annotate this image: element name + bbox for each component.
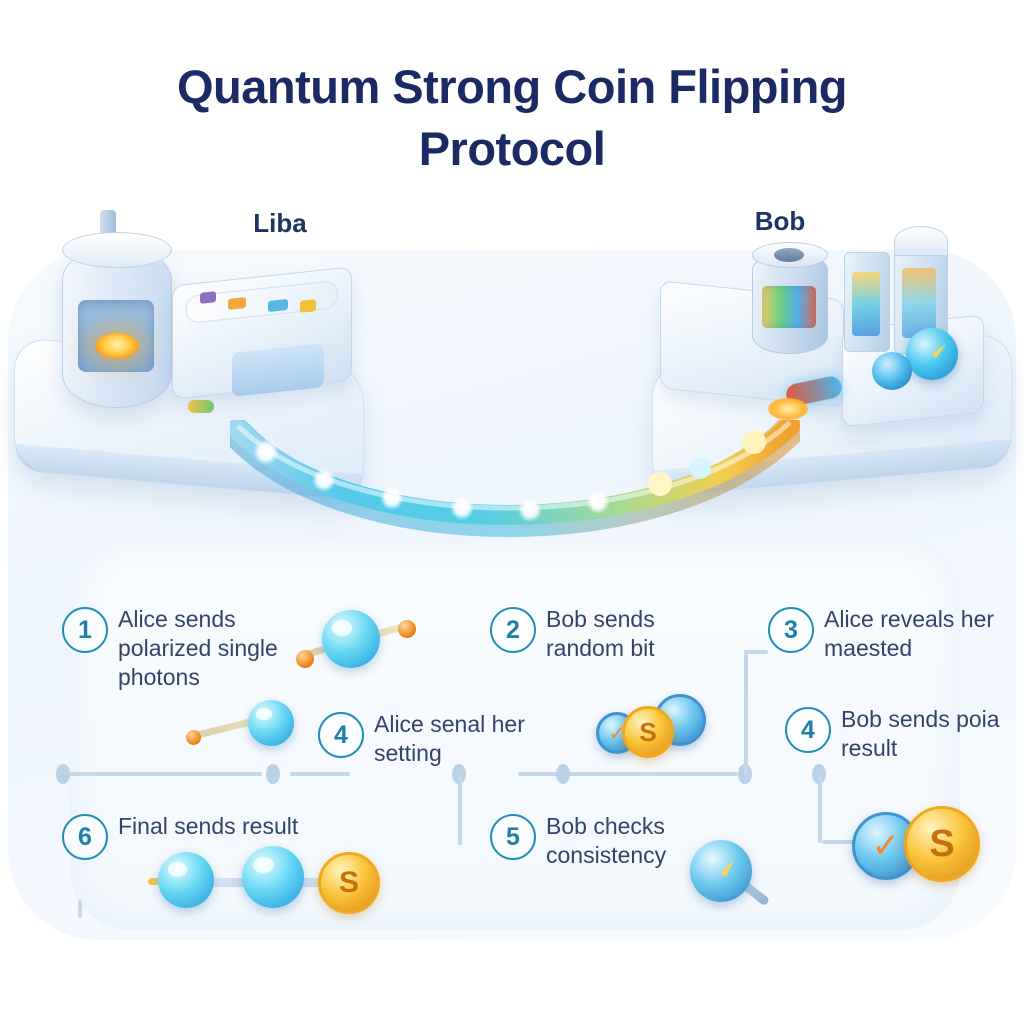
illustration-canvas: Quantum Strong Coin Flipping Protocol Li… [0, 0, 1024, 1024]
magnifier-lens [690, 840, 752, 902]
connector-dot-1 [56, 764, 70, 784]
coin-gold-dollar-final: S [318, 852, 380, 914]
step-label-1: Alice sends polarized single photons [118, 605, 318, 693]
alice-output-spark [188, 400, 214, 413]
connector-line-vert-1 [458, 775, 462, 845]
step-number-2: 2 [490, 607, 536, 653]
title-line-2: Protocol [0, 118, 1024, 180]
step-number-4a: 4 [318, 712, 364, 758]
quantum-channel-svg [230, 420, 800, 550]
connector-line-vert-3 [818, 775, 822, 843]
alice-emission-glow [95, 333, 139, 359]
step-number-3: 3 [768, 607, 814, 653]
step-number-4b: 4 [785, 707, 831, 753]
party-label-bob: Bob [690, 206, 870, 237]
title-line-1: Quantum Strong Coin Flipping [177, 60, 847, 113]
spectrum-glyph-icon [690, 840, 752, 902]
bob-tower-1-window [852, 272, 880, 336]
step-label-2: Bob sends random bit [546, 605, 736, 663]
alice-chip-yellow [300, 299, 316, 313]
bob-tower-2-dome [894, 226, 948, 256]
bob-beam-flare [768, 398, 808, 420]
connector-line-vert-4 [78, 900, 82, 918]
step-label-3: Alice reveals her maested [824, 605, 1014, 663]
result-coin-gold: S [904, 806, 980, 882]
step-label-6: Final sends result [118, 812, 398, 841]
coin-gold-dollar: S [622, 706, 674, 758]
bob-secondary-sphere [872, 352, 912, 390]
alice-chip-purple [200, 291, 216, 304]
connector-line-3 [518, 772, 738, 776]
connector-line-vert-2 [744, 650, 748, 776]
quantum-channel [230, 420, 800, 550]
alice-chamber-lid [62, 232, 172, 268]
step-label-4a: Alice senal her setting [374, 710, 564, 768]
compass-needle-icon [906, 328, 958, 380]
bob-cylinder-spectrum-window [762, 286, 816, 328]
page-title: Quantum Strong Coin Flipping Protocol [0, 56, 1024, 180]
step-number-1: 1 [62, 607, 108, 653]
alice-chip-blue [268, 299, 288, 312]
connector-dot-2 [266, 764, 280, 784]
connector-line-2 [290, 772, 350, 776]
party-label-alice: Liba [180, 208, 380, 239]
bob-measurement-sphere [906, 328, 958, 380]
step-number-6: 6 [62, 814, 108, 860]
connector-line-1 [62, 772, 262, 776]
connector-line-4 [744, 650, 768, 654]
step-label-4b: Bob sends poia result [841, 705, 1024, 763]
alice-chip-orange [228, 297, 246, 310]
step-number-5: 5 [490, 814, 536, 860]
bob-cylinder-port [774, 248, 804, 262]
